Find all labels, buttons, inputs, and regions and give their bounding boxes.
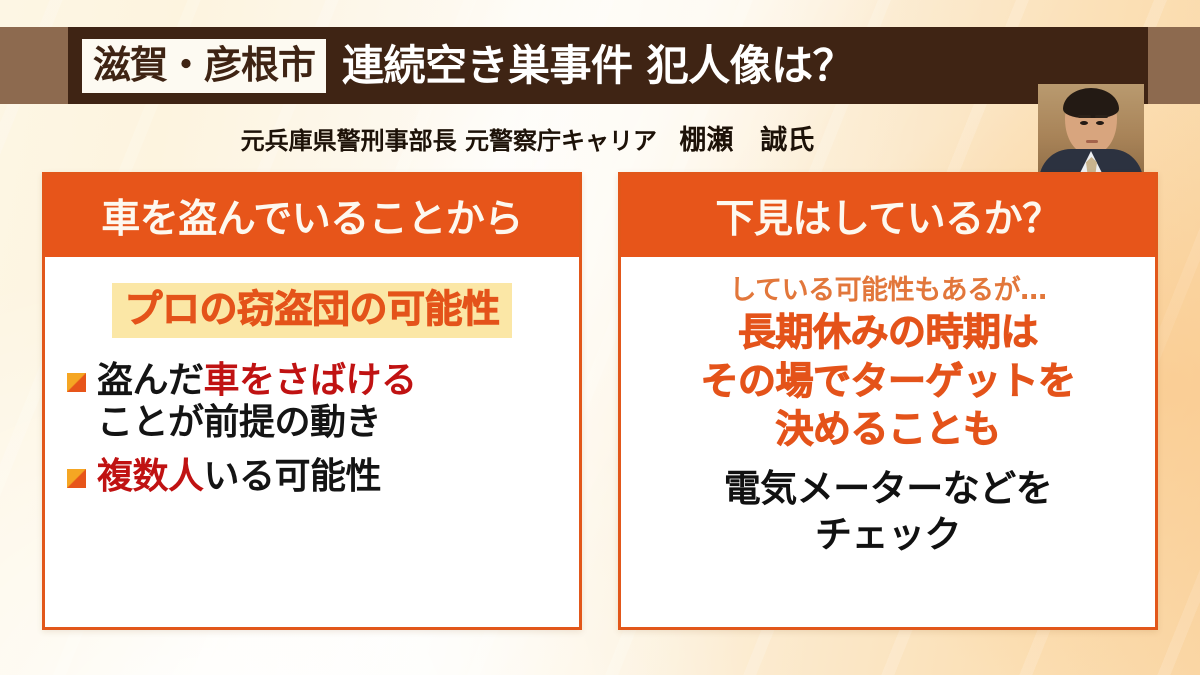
panel-right-black-line-1: 電気メーターなどを (621, 466, 1155, 511)
panel-right-big-line-1: 長期休みの時期は (621, 309, 1155, 355)
location-badge: 滋賀・彦根市 (82, 39, 326, 93)
panel-right-big-line-2: その場でターゲットを (621, 358, 1155, 404)
header-bar: 滋賀・彦根市 連続空き巣事件 犯人像は？ (0, 27, 1200, 104)
panel-right-black-line-2: チェック (621, 512, 1155, 557)
panel-left-bullet-list: 盗んだ車をさばける ことが前提の動き 複数人いる可能性 (45, 360, 579, 499)
portrait-eyebrow-right (1095, 115, 1108, 118)
panel-right-heading: 下見はしているか？ (621, 175, 1155, 257)
panel-left-heading: 車を盗んでいることから (45, 175, 579, 257)
bullet-square-icon (67, 373, 86, 392)
list-item: 複数人いる可能性 (67, 456, 579, 498)
commentator-portrait (1038, 84, 1144, 181)
bullet-part-plain: いる可能性 (204, 456, 382, 497)
portrait-eye-left (1080, 121, 1088, 125)
bullet-text: 盗んだ車をさばける ことが前提の動き (97, 360, 417, 445)
portrait-mouth (1086, 140, 1098, 143)
panel-right-big-line-3: 決めることも (621, 406, 1155, 452)
portrait-eyebrow-left (1078, 115, 1091, 118)
header-cap-left (0, 27, 68, 104)
bullet-part-plain: 盗んだ (97, 360, 204, 401)
panel-right: 下見はしているか？ している可能性もあるが… 長期休みの時期は その場でターゲッ… (618, 172, 1158, 630)
panel-left-highlight-row: プロの窃盗団の可能性 (63, 283, 561, 338)
bullet-part-emphasis: 複数人 (97, 456, 204, 497)
bullet-line2: ことが前提の動き (97, 402, 381, 443)
panel-left: 車を盗んでいることから プロの窃盗団の可能性 盗んだ車をさばける ことが前提の動… (42, 172, 582, 630)
bullet-square-icon (67, 469, 86, 488)
header-cap-right (1148, 27, 1200, 104)
header-bar-inner: 滋賀・彦根市 連続空き巣事件 犯人像は？ (68, 27, 1148, 104)
bullet-part-emphasis: 車をさばける (204, 360, 417, 401)
bullet-text: 複数人いる可能性 (97, 456, 381, 498)
list-item: 盗んだ車をさばける ことが前提の動き (67, 360, 579, 445)
panel-left-highlight: プロの窃盗団の可能性 (112, 283, 511, 338)
portrait-eye-right (1096, 121, 1104, 125)
panel-right-text-block: している可能性もあるが… 長期休みの時期は その場でターゲットを 決めることも … (621, 257, 1155, 557)
expert-credit: 元兵庫県警刑事部長 元警察庁キャリア 棚瀬 誠氏 (0, 118, 1055, 157)
page-title: 連続空き巣事件 犯人像は？ (342, 45, 854, 87)
panel-right-body: している可能性もあるが… 長期休みの時期は その場でターゲットを 決めることも … (621, 257, 1155, 627)
panel-left-body: プロの窃盗団の可能性 盗んだ車をさばける ことが前提の動き 複数人いる可能性 (45, 283, 579, 653)
panel-right-lead: している可能性もあるが… (621, 275, 1155, 307)
expert-credentials: 元兵庫県警刑事部長 元警察庁キャリア (241, 127, 657, 155)
graphic-stage: 滋賀・彦根市 連続空き巣事件 犯人像は？ 元兵庫県警刑事部長 元警察庁キャリア … (0, 0, 1200, 675)
expert-name: 棚瀬 誠氏 (679, 125, 814, 156)
